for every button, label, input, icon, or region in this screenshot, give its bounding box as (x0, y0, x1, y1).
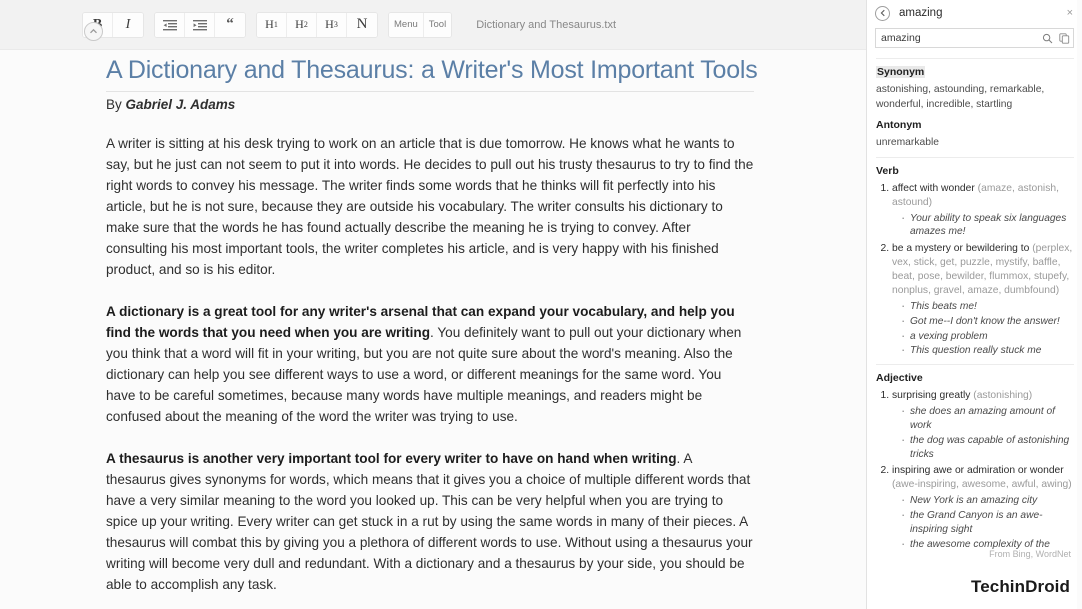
antonym-list: unremarkable (876, 136, 1074, 151)
sense-item: surprising greatly (astonishing)she does… (892, 389, 1074, 461)
synonym-list: astonishing, astounding, remarkable, won… (876, 83, 1074, 112)
paragraph-3-lead: A thesaurus is another very important to… (106, 451, 677, 466)
scrollbar[interactable] (1077, 0, 1082, 609)
sense-definition: affect with wonder (892, 183, 978, 194)
example-item: Your ability to speak six languages amaz… (901, 212, 1074, 240)
document-body[interactable]: A Dictionary and Thesaurus: a Writer's M… (106, 56, 754, 609)
sense-item: be a mystery or bewildering to (perplex,… (892, 242, 1074, 358)
example-item: Got me--I don't know the answer! (901, 315, 1074, 329)
paragraph-1: A writer is sitting at his desk trying t… (106, 133, 754, 280)
example-item: This beats me! (901, 300, 1074, 314)
search-bar (875, 28, 1074, 48)
example-item: she does an amazing amount of work (901, 405, 1074, 433)
search-icon[interactable] (1039, 29, 1056, 47)
example-item: New York is an amazing city (901, 494, 1074, 508)
dictionary-panel: amazing × Synonym astonishing, astoundin… (866, 0, 1082, 609)
example-item: the Grand Canyon is an awe-inspiring sig… (901, 509, 1074, 537)
adjective-heading: Adjective (876, 372, 1074, 384)
copy-icon[interactable] (1056, 29, 1073, 47)
heading1-sub: 1 (274, 20, 278, 29)
example-list: New York is an amazing citythe Grand Can… (892, 494, 1074, 552)
heading2-button[interactable]: H2 (287, 13, 317, 37)
paragraph-3: A thesaurus is another very important to… (106, 448, 754, 595)
adjective-sense-list: surprising greatly (astonishing)she does… (876, 389, 1074, 552)
arrow-left-icon[interactable] (875, 6, 890, 21)
normal-style-button[interactable]: N (347, 13, 377, 37)
source-credit: From Bing, WordNet (989, 549, 1071, 559)
divider-2 (876, 157, 1074, 158)
heading3-sub: 3 (334, 20, 338, 29)
paragraph-3-rest: . A thesaurus gives synonyms for words, … (106, 451, 753, 592)
author-name: Gabriel J. Adams (126, 97, 236, 112)
sense-item: inspiring awe or admiration or wonder (a… (892, 464, 1074, 552)
example-list: she does an amazing amount of workthe do… (892, 405, 1074, 461)
byline: By Gabriel J. Adams (106, 97, 754, 112)
sense-synonyms: (awe-inspiring, awesome, awful, awing) (892, 479, 1072, 490)
verb-sense-list: affect with wonder (amaze, astonish, ast… (876, 182, 1074, 359)
example-item: the dog was capable of astonishing trick… (901, 434, 1074, 462)
chevron-up-glyph (88, 26, 99, 37)
byline-prefix: By (106, 97, 126, 112)
sense-item: affect with wonder (amaze, astonish, ast… (892, 182, 1074, 240)
divider-3 (876, 364, 1074, 365)
verb-heading: Verb (876, 165, 1074, 177)
file-name-label: Dictionary and Thesaurus.txt (476, 19, 616, 31)
synonym-heading: Synonym (876, 66, 925, 78)
heading1-label: H (265, 17, 274, 32)
indent-decrease-glyph (163, 20, 177, 31)
chevron-up-icon[interactable] (84, 22, 103, 41)
divider-1 (876, 58, 1074, 59)
indent-increase-glyph (193, 20, 207, 31)
sense-definition: inspiring awe or admiration or wonder (892, 465, 1064, 476)
arrow-left-glyph (878, 8, 888, 18)
formatting-toolbar: B I (0, 0, 866, 50)
indent-increase-icon (193, 19, 207, 30)
indent-button[interactable] (185, 13, 215, 37)
blockquote-button[interactable]: “ (215, 13, 245, 37)
search-input[interactable] (876, 29, 1039, 47)
heading2-label: H (295, 17, 304, 32)
example-item: a vexing problem (901, 330, 1074, 344)
copy-glyph (1059, 33, 1070, 44)
dictionary-panel-header: amazing × (867, 0, 1082, 26)
heading-group: H1 H2 H3 N (256, 12, 378, 38)
watermark: TechinDroid (971, 577, 1070, 597)
sense-definition: surprising greatly (892, 390, 973, 401)
menu-tool-group: Menu Tool (388, 12, 452, 38)
menu-button[interactable]: Menu (389, 13, 424, 37)
editor-pane: B I (0, 0, 866, 609)
tool-button[interactable]: Tool (424, 13, 451, 37)
sense-definition: be a mystery or bewildering to (892, 243, 1032, 254)
outdent-button[interactable] (155, 13, 185, 37)
example-list: Your ability to speak six languages amaz… (892, 212, 1074, 240)
indent-decrease-icon (163, 19, 177, 30)
example-item: This question really stuck me (901, 344, 1074, 358)
antonym-heading: Antonym (876, 119, 1074, 131)
search-glyph (1042, 33, 1053, 44)
indent-quote-group: “ (154, 12, 246, 38)
paragraph-2: A dictionary is a great tool for any wri… (106, 301, 754, 427)
lookup-word-title: amazing (899, 7, 1064, 19)
page-title: A Dictionary and Thesaurus: a Writer's M… (106, 56, 754, 92)
dictionary-content: Synonym astonishing, astounding, remarka… (867, 52, 1082, 552)
heading3-label: H (325, 17, 334, 32)
heading3-button[interactable]: H3 (317, 13, 347, 37)
heading1-button[interactable]: H1 (257, 13, 287, 37)
italic-button[interactable]: I (113, 13, 143, 37)
close-icon[interactable]: × (1064, 6, 1076, 21)
heading2-sub: 2 (304, 20, 308, 29)
example-list: This beats me!Got me--I don't know the a… (892, 300, 1074, 358)
sense-synonyms: (astonishing) (973, 390, 1032, 401)
